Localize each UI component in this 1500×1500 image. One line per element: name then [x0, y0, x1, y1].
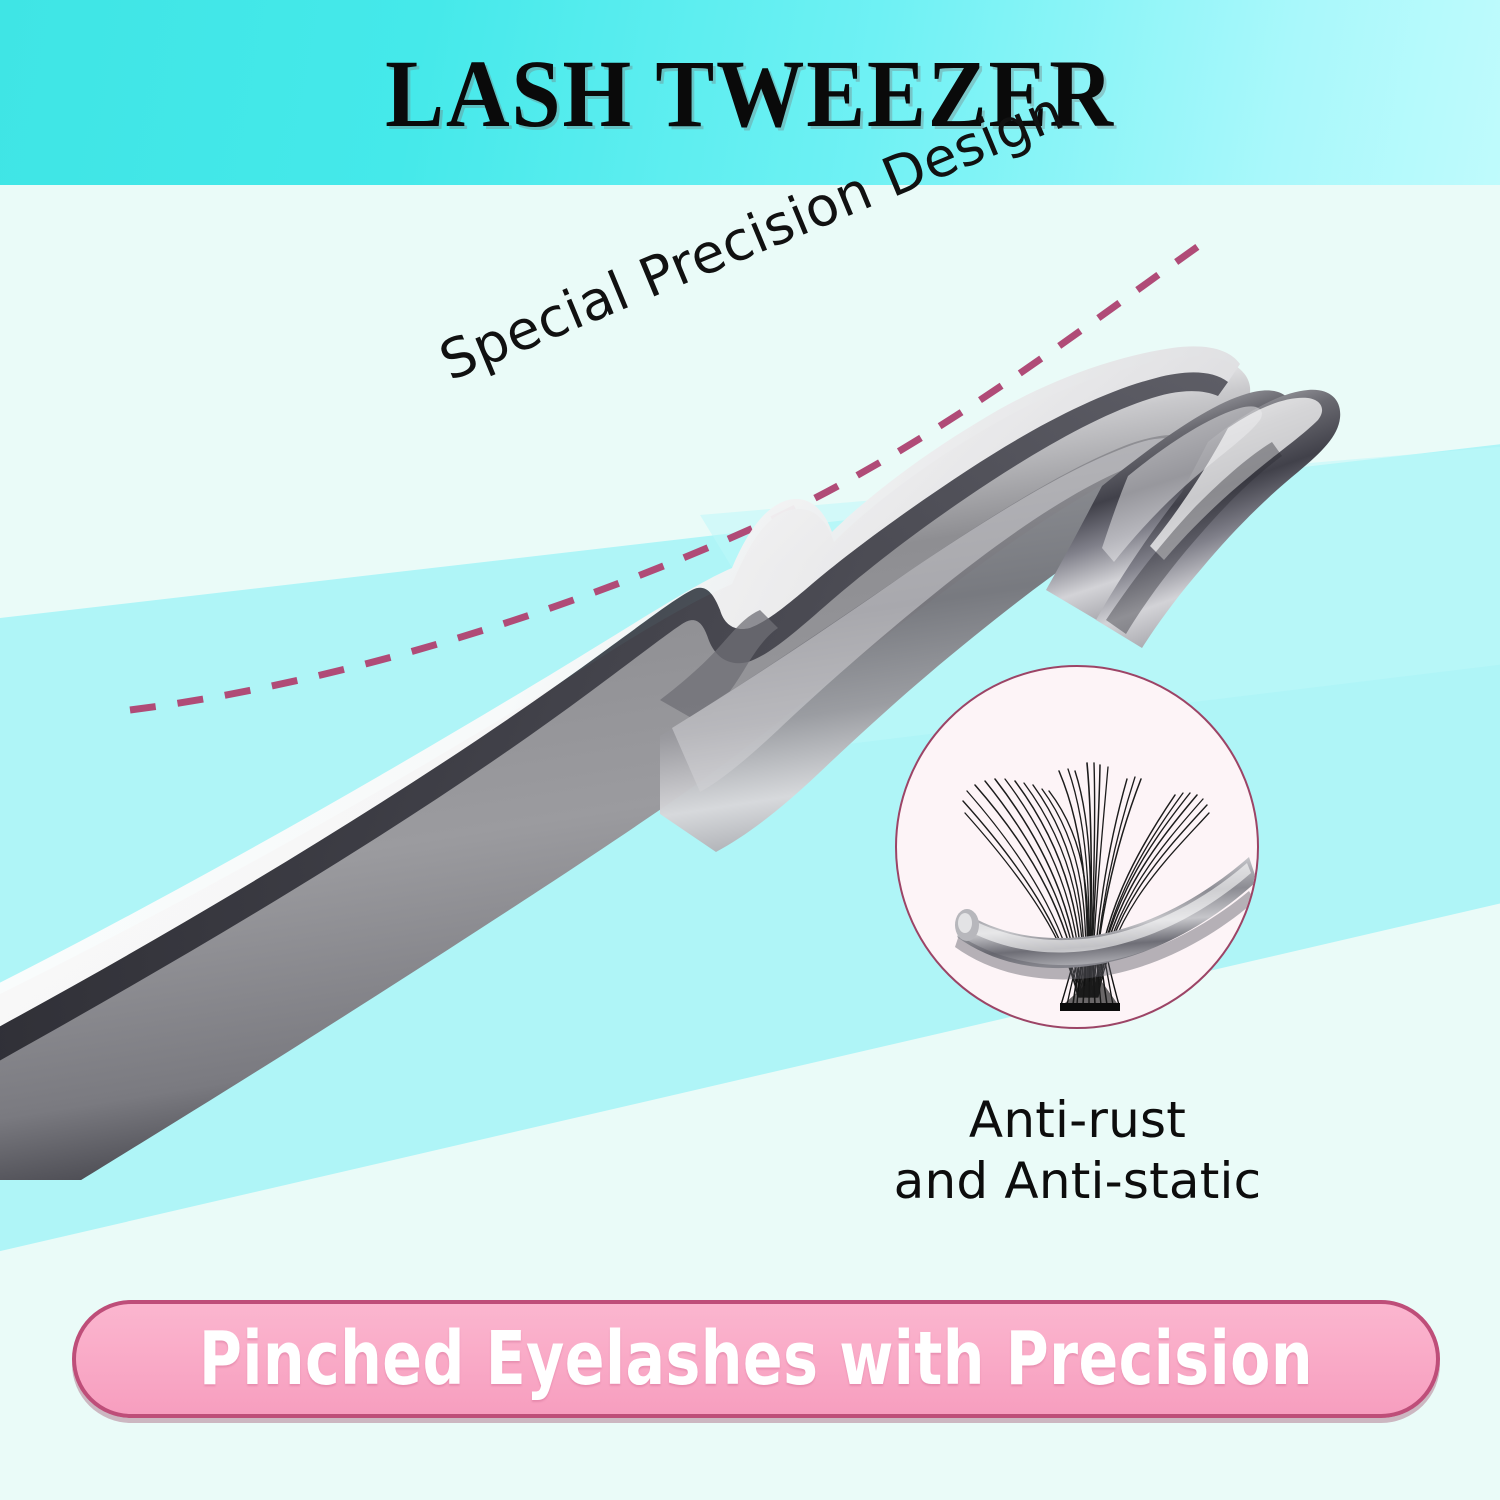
- page-title: LASH TWEEZER: [60, 46, 1440, 142]
- anti-rust-caption: Anti-rust and Anti-static: [835, 1090, 1320, 1212]
- promo-banner: Pinched Eyelashes with Precision: [72, 1300, 1440, 1418]
- anti-rust-line-1: Anti-rust: [969, 1091, 1186, 1149]
- header-banner: LASH TWEEZER: [0, 0, 1500, 185]
- eyelash-fan-detail-icon: [897, 667, 1257, 1027]
- detail-inset-circle: [895, 665, 1259, 1029]
- promo-banner-text: Pinched Eyelashes with Precision: [199, 1316, 1313, 1402]
- product-feature-card: LASH TWEEZER Special Precision Design: [0, 0, 1500, 1500]
- anti-rust-line-2: and Anti-static: [835, 1151, 1320, 1212]
